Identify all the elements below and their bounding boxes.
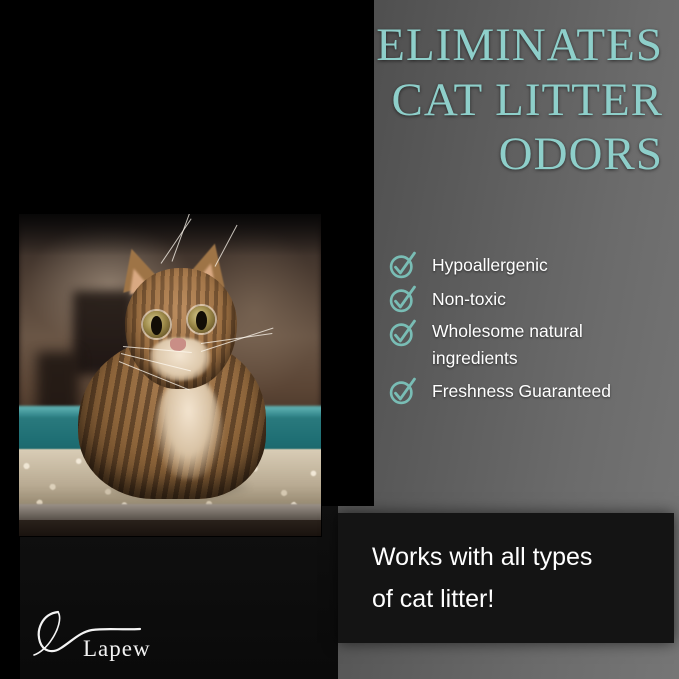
benefit-label: Freshness Guaranteed (432, 376, 611, 406)
benefits-list: HypoallergenicNon-toxicWholesome natural… (388, 250, 674, 410)
brand-name: Lapew (83, 636, 151, 662)
circle-check-icon (388, 250, 418, 280)
headline-line-2: CAT LITTER (263, 73, 663, 128)
circle-check-icon (388, 318, 418, 348)
benefit-label-line: ingredients (432, 345, 583, 372)
callout-box: Works with all typesof cat litter! (338, 513, 674, 643)
circle-check-icon (388, 284, 418, 314)
benefit-item: Freshness Guaranteed (388, 376, 674, 406)
kitten-right-pupil (196, 311, 207, 330)
headline-line-1: ELIMINATES (263, 18, 663, 73)
kitten-litter-box-photo (19, 214, 321, 536)
benefit-label-line: Hypoallergenic (432, 250, 548, 280)
benefit-label-line: Non-toxic (432, 284, 506, 314)
kitten-left-pupil (151, 316, 162, 335)
brand-logo: Lapew (28, 608, 208, 670)
benefit-label: Hypoallergenic (432, 250, 548, 280)
callout-line-1: Works with all types (372, 536, 674, 578)
benefit-label: Non-toxic (432, 284, 506, 314)
benefit-label: Wholesome naturalingredients (432, 318, 583, 372)
benefit-label-line: Freshness Guaranteed (432, 376, 611, 406)
circle-check-icon (388, 376, 418, 406)
headline: ELIMINATESCAT LITTERODORS (263, 18, 663, 182)
black-left-edge-strip (0, 0, 20, 679)
benefit-item: Wholesome naturalingredients (388, 318, 674, 372)
benefit-item: Hypoallergenic (388, 250, 674, 280)
benefit-label-line: Wholesome natural (432, 318, 583, 345)
callout-line-2: of cat litter! (372, 578, 674, 620)
product-advertisement: ELIMINATESCAT LITTERODORS Hypoallergenic… (0, 0, 679, 679)
benefit-item: Non-toxic (388, 284, 674, 314)
kitten-figure (88, 243, 269, 494)
photo-floor (19, 520, 321, 536)
headline-line-3: ODORS (263, 127, 663, 182)
